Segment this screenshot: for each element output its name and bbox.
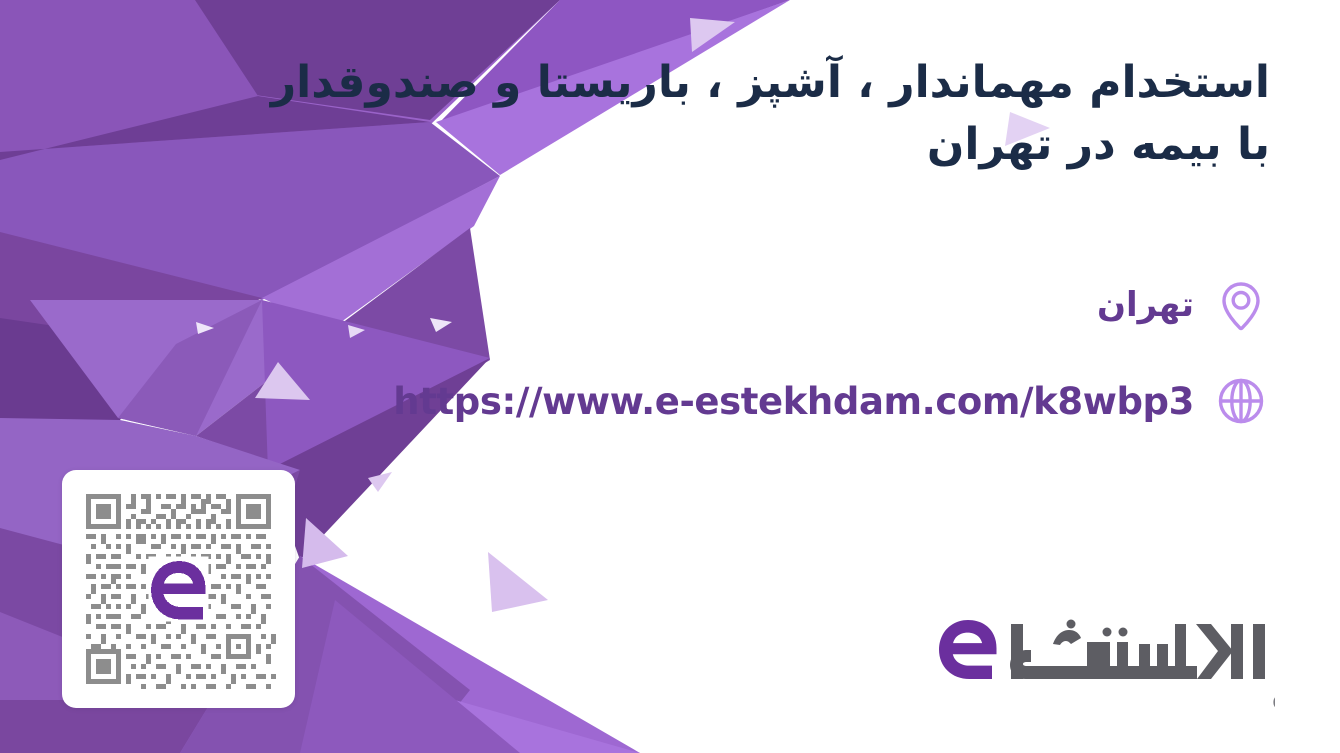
qr-code[interactable]	[62, 470, 295, 708]
url-row[interactable]: https://www.e-estekhdam.com/k8wbp3	[393, 372, 1270, 430]
job-title: استخدام مهماندار ، آشپز ، باریستا و صندو…	[330, 52, 1270, 177]
globe-icon	[1212, 372, 1270, 430]
logo-wordmark-en: e-estekhdam	[1272, 686, 1275, 715]
brand-logo: e-estekhdam	[935, 612, 1275, 717]
qr-center-logo	[151, 561, 206, 620]
map-pin-icon	[1212, 278, 1270, 336]
url-value[interactable]: https://www.e-estekhdam.com/k8wbp3	[393, 380, 1194, 423]
logo-wordmark-fa	[968, 620, 1265, 680]
job-title-line-2: با بیمه در تهران	[330, 114, 1270, 176]
qr-code-icon	[76, 484, 281, 694]
job-title-line-1: استخدام مهماندار ، آشپز ، باریستا و صندو…	[330, 52, 1270, 114]
location-value: تهران	[1097, 288, 1194, 326]
job-ad-card: استخدام مهماندار ، آشپز ، باریستا و صندو…	[0, 0, 1340, 753]
location-row: تهران	[1097, 278, 1270, 336]
